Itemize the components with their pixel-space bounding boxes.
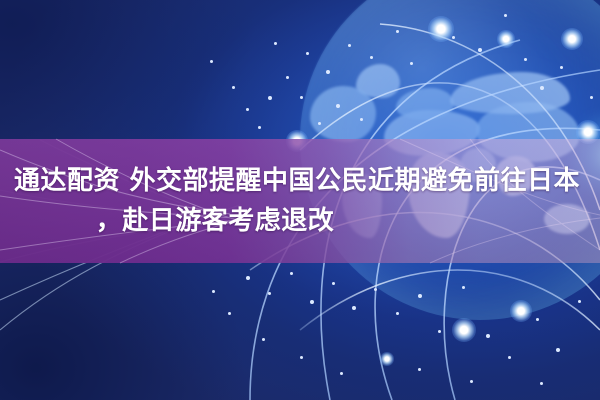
headline-block: 通达配资 外交部提醒中国公民近期避免前往日本 ，赴日游客考虑退改	[0, 139, 600, 263]
headline-line-1: 通达配资 外交部提醒中国公民近期避免前往日本	[10, 161, 590, 201]
headline-line-2: ，赴日游客考虑退改	[10, 201, 590, 241]
banner-image: 通达配资 外交部提醒中国公民近期避免前往日本 ，赴日游客考虑退改	[0, 0, 600, 400]
